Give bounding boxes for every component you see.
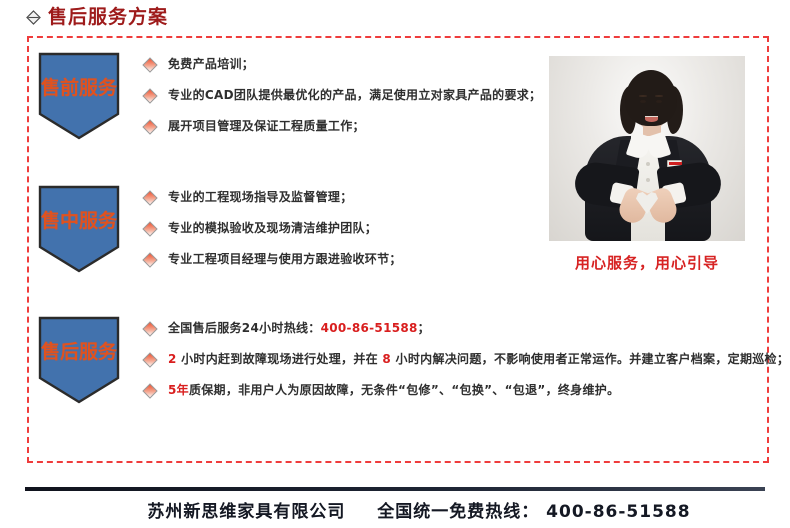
hotline-number: 400-86-51588 bbox=[321, 321, 418, 335]
bullet-text: 专业的CAD团队提供最优化的产品，满足使用立对家具产品的要求； bbox=[168, 87, 541, 103]
diamond-bullet-icon bbox=[142, 383, 158, 399]
bullet-text: 5年质保期，非用户人为原因故障，无条件“包修”、“包换”、“包退”，终身维护。 bbox=[168, 382, 619, 398]
service-section-after-sale: 售后服务 全国售后服务24小时热线：400-86-51588； 2 小时内赶到故… bbox=[38, 316, 789, 413]
photo-brow-right bbox=[655, 95, 663, 97]
footer-hotline-label: 全国统一免费热线： bbox=[377, 502, 539, 522]
slide-root: 售后服务方案 售前服务 免费产品培训； bbox=[0, 0, 790, 528]
photo-shirt-button bbox=[646, 162, 650, 166]
badge-label-in-sale: 售中服务 bbox=[26, 212, 132, 231]
response-text-post: 小时内解决问题，不影响使用者正常运作。并建立客户档案，定期巡检； bbox=[391, 352, 789, 366]
diamond-bullet-icon bbox=[142, 221, 158, 237]
bullet-text: 展开项目管理及保证工程质量工作； bbox=[168, 118, 365, 134]
bullet-list-after-sale: 全国售后服务24小时热线：400-86-51588； 2 小时内赶到故障现场进行… bbox=[142, 316, 789, 413]
hotline-suffix: ； bbox=[418, 321, 430, 335]
footer-bar: 苏州新思维家具有限公司 全国统一免费热线： 400-86-51588 bbox=[0, 497, 790, 522]
badge-label-pre-sale: 售前服务 bbox=[26, 79, 132, 98]
diamond-icon bbox=[26, 10, 41, 25]
bullet-item: 专业工程项目经理与使用方跟进验收环节； bbox=[142, 251, 402, 282]
warranty-years: 5年 bbox=[168, 383, 189, 397]
hotline-prefix: 全国售后服务24小时热线： bbox=[168, 321, 321, 335]
diamond-bullet-icon bbox=[142, 352, 158, 368]
bullet-item: 专业的模拟验收及现场清洁维护团队； bbox=[142, 220, 402, 251]
photo-eye-left bbox=[640, 100, 646, 103]
bullet-item: 专业的工程现场指导及监督管理； bbox=[142, 189, 402, 220]
service-representative-photo bbox=[549, 56, 745, 241]
service-section-in-sale: 售中服务 专业的工程现场指导及监督管理； 专业的模拟验收及现场清洁维护团队； bbox=[38, 185, 402, 282]
diamond-bullet-icon bbox=[142, 119, 158, 135]
response-hours: 2 bbox=[168, 352, 177, 366]
footer-company-name: 苏州新思维家具有限公司 bbox=[147, 502, 345, 522]
bullet-item: 2 小时内赶到故障现场进行处理，并在 8 小时内解决问题，不影响使用者正常运作。… bbox=[142, 351, 789, 382]
photo-shirt-button bbox=[646, 178, 650, 182]
resolution-hours: 8 bbox=[382, 352, 391, 366]
warranty-text: 质保期，非用户人为原因故障，无条件“包修”、“包换”、“包退”，终身维护。 bbox=[189, 383, 619, 397]
page-title-row: 售后服务方案 bbox=[26, 8, 168, 27]
badge-pentagon-after-sale: 售后服务 bbox=[38, 316, 120, 404]
response-text-mid: 小时内赶到故障现场进行处理，并在 bbox=[177, 352, 383, 366]
bullet-list-pre-sale: 免费产品培训； 专业的CAD团队提供最优化的产品，满足使用立对家具产品的要求； … bbox=[142, 52, 541, 149]
photo-smile bbox=[645, 116, 658, 122]
footer-divider bbox=[25, 487, 765, 491]
bullet-item: 免费产品培训； bbox=[142, 56, 541, 87]
bullet-item: 全国售后服务24小时热线：400-86-51588； bbox=[142, 320, 789, 351]
bullet-item: 展开项目管理及保证工程质量工作； bbox=[142, 118, 541, 149]
bullet-list-in-sale: 专业的工程现场指导及监督管理； 专业的模拟验收及现场清洁维护团队； 专业工程项目… bbox=[142, 185, 402, 282]
footer-hotline-number: 400-86-51588 bbox=[546, 502, 690, 522]
diamond-bullet-icon bbox=[142, 57, 158, 73]
badge-pentagon-pre-sale: 售前服务 bbox=[38, 52, 120, 140]
bullet-text: 专业的模拟验收及现场清洁维护团队； bbox=[168, 220, 377, 236]
photo-caption: 用心服务，用心引导 bbox=[549, 252, 745, 273]
diamond-bullet-icon bbox=[142, 88, 158, 104]
photo-eye-right bbox=[656, 100, 662, 103]
bullet-text: 2 小时内赶到故障现场进行处理，并在 8 小时内解决问题，不影响使用者正常运作。… bbox=[168, 351, 789, 367]
service-section-pre-sale: 售前服务 免费产品培训； bbox=[38, 52, 541, 149]
bullet-text: 免费产品培训； bbox=[168, 56, 254, 72]
bullet-text: 专业工程项目经理与使用方跟进验收环节； bbox=[168, 251, 402, 267]
diamond-bullet-icon bbox=[142, 190, 158, 206]
badge-pentagon-in-sale: 售中服务 bbox=[38, 185, 120, 273]
bullet-item: 专业的CAD团队提供最优化的产品，满足使用立对家具产品的要求； bbox=[142, 87, 541, 118]
diamond-bullet-icon bbox=[142, 321, 158, 337]
bullet-text: 全国售后服务24小时热线：400-86-51588； bbox=[168, 320, 430, 336]
service-photo-panel bbox=[549, 56, 745, 241]
bullet-item: 5年质保期，非用户人为原因故障，无条件“包修”、“包换”、“包退”，终身维护。 bbox=[142, 382, 789, 413]
page-title: 售后服务方案 bbox=[48, 8, 168, 27]
diamond-bullet-icon bbox=[142, 252, 158, 268]
photo-brow-left bbox=[639, 95, 647, 97]
badge-label-after-sale: 售后服务 bbox=[26, 343, 132, 362]
bullet-text: 专业的工程现场指导及监督管理； bbox=[168, 189, 353, 205]
